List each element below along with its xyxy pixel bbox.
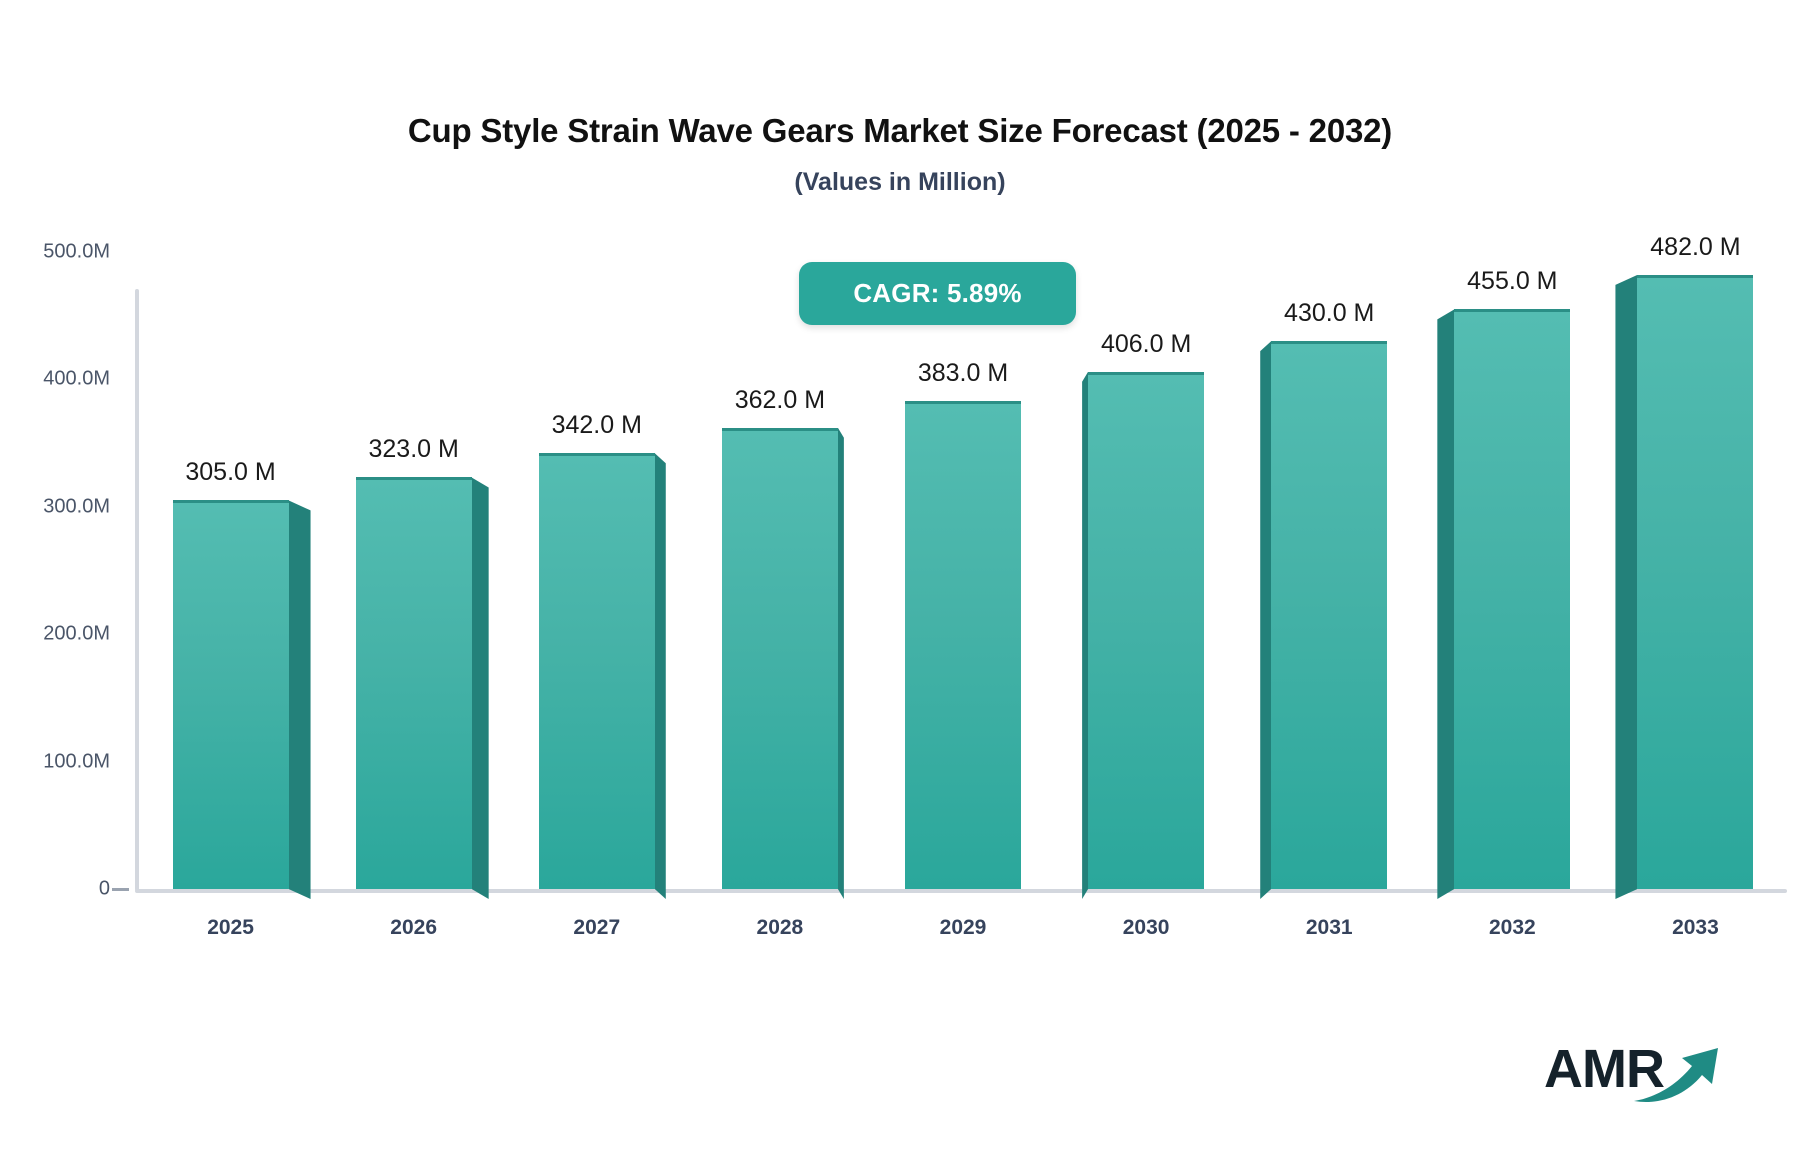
y-axis-tick-label: 100.0M bbox=[0, 750, 110, 773]
bar-value-label: 383.0 M bbox=[918, 359, 1008, 388]
x-axis-tick-label: 2031 bbox=[1306, 916, 1353, 940]
bar-side-face bbox=[838, 428, 844, 899]
bar-front-face[interactable] bbox=[173, 500, 289, 889]
y-axis-tick-label: 200.0M bbox=[0, 623, 110, 646]
x-axis-tick-label: 2025 bbox=[207, 916, 254, 940]
bar-value-label: 342.0 M bbox=[552, 411, 642, 440]
y-axis-line bbox=[135, 289, 139, 891]
bar-side-face bbox=[472, 477, 489, 899]
bar-front-face[interactable] bbox=[722, 428, 838, 889]
bar-side-face bbox=[1437, 309, 1454, 899]
growth-arrow-icon bbox=[1632, 1044, 1727, 1106]
x-axis-tick-label: 2032 bbox=[1489, 916, 1536, 940]
y-axis-tick-label: 0 bbox=[0, 878, 110, 901]
bar-side-face bbox=[655, 453, 666, 899]
bar-value-label: 362.0 M bbox=[735, 386, 825, 415]
bar-front-face[interactable] bbox=[1088, 372, 1204, 889]
x-axis-tick-label: 2028 bbox=[757, 916, 804, 940]
bar-value-label: 406.0 M bbox=[1101, 330, 1191, 359]
bar-front-face[interactable] bbox=[1454, 309, 1570, 889]
bar-front-face[interactable] bbox=[1271, 341, 1387, 889]
x-axis-line bbox=[135, 889, 1787, 893]
bar-value-label: 305.0 M bbox=[185, 458, 275, 487]
x-axis-tick-label: 2033 bbox=[1672, 916, 1719, 940]
x-axis-tick-label: 2030 bbox=[1123, 916, 1170, 940]
x-axis-tick-label: 2027 bbox=[573, 916, 620, 940]
chart-container: Cup Style Strain Wave Gears Market Size … bbox=[0, 0, 1800, 1156]
bar-side-face bbox=[289, 500, 311, 899]
cagr-badge: CAGR: 5.89% bbox=[799, 262, 1076, 325]
bar-front-face[interactable] bbox=[905, 401, 1021, 889]
bar-side-face bbox=[1260, 341, 1271, 899]
bar-side-face bbox=[1615, 275, 1637, 899]
amr-logo: AMR bbox=[1544, 1040, 1724, 1112]
bar-value-label: 323.0 M bbox=[368, 435, 458, 464]
y-axis-tick-mark bbox=[112, 888, 129, 891]
bar-front-face[interactable] bbox=[539, 453, 655, 889]
bar-value-label: 430.0 M bbox=[1284, 299, 1374, 328]
bar-front-face[interactable] bbox=[1637, 275, 1753, 889]
y-axis-tick-label: 500.0M bbox=[0, 241, 110, 264]
bar-front-face[interactable] bbox=[356, 477, 472, 889]
y-axis-tick-label: 400.0M bbox=[0, 368, 110, 391]
x-axis-tick-label: 2029 bbox=[940, 916, 987, 940]
y-axis-tick-label: 300.0M bbox=[0, 495, 110, 518]
bar-value-label: 455.0 M bbox=[1467, 267, 1557, 296]
bar-value-label: 482.0 M bbox=[1650, 233, 1740, 262]
x-axis-tick-label: 2026 bbox=[390, 916, 437, 940]
plot-area: 0100.0M200.0M300.0M400.0M500.0M 305.0 M3… bbox=[0, 0, 1800, 1156]
